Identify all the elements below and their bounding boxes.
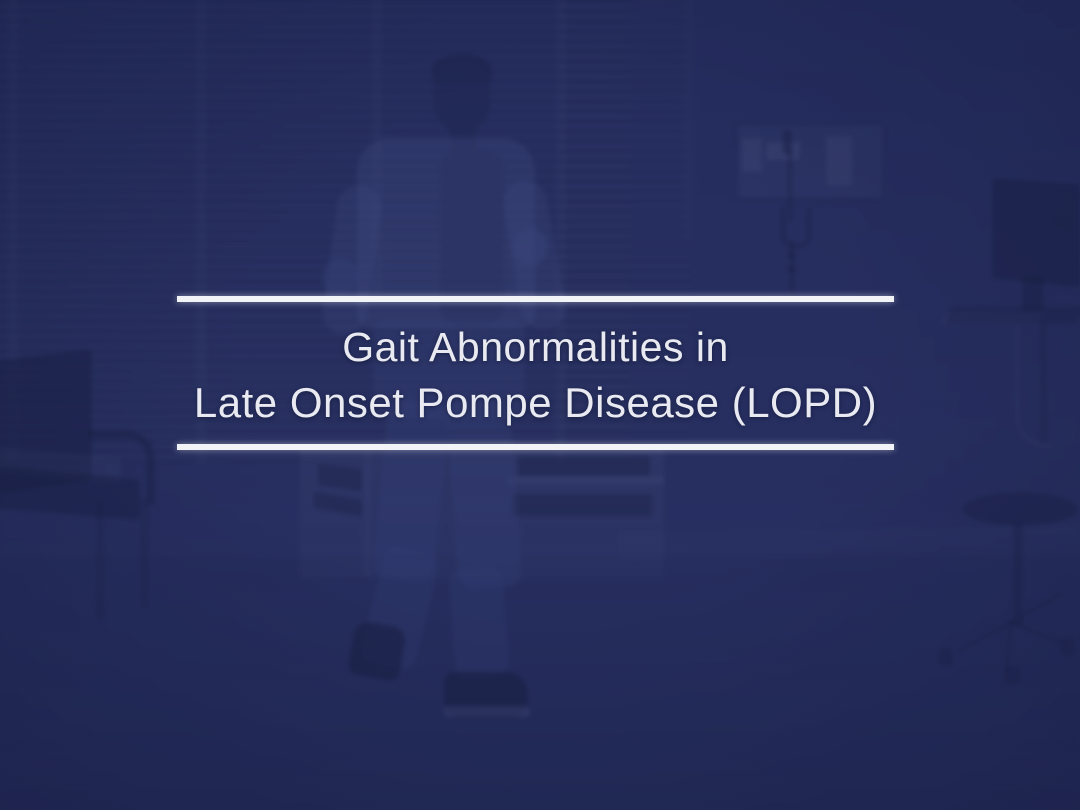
title-rule-bottom [177,444,894,450]
title-card-slide: Gait Abnormalities in Late Onset Pompe D… [0,0,1080,810]
title-text-group: Gait Abnormalities in Late Onset Pompe D… [177,302,894,444]
title-line-2: Late Onset Pompe Disease (LOPD) [177,375,894,431]
title-block: Gait Abnormalities in Late Onset Pompe D… [177,296,894,450]
title-line-1: Gait Abnormalities in [177,320,894,375]
